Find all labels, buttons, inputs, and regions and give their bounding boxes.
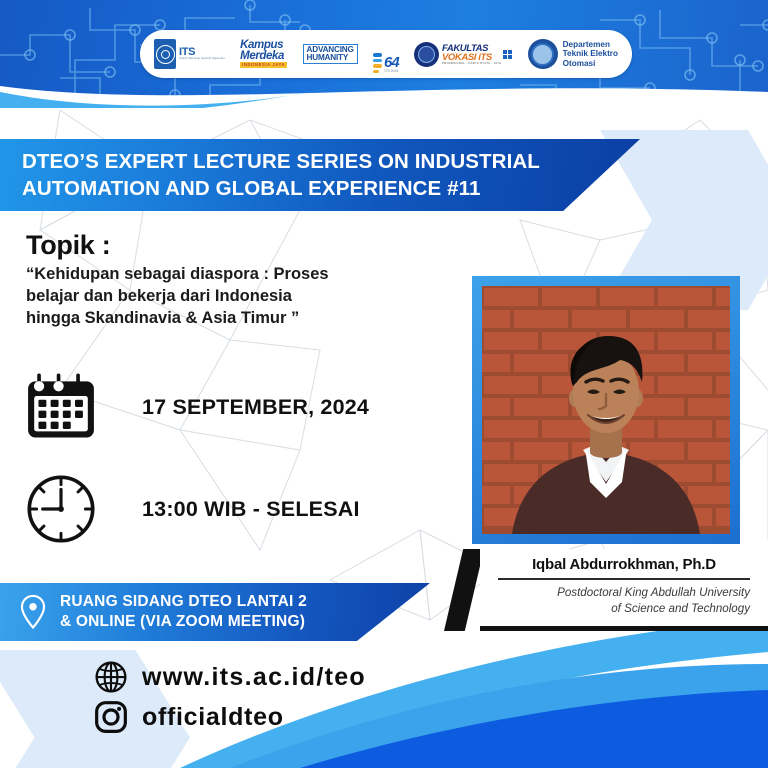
title-line-1: DTEO’S EXPERT LECTURE SERIES ON INDUSTRI… <box>22 148 640 175</box>
speaker-photo-frame <box>472 276 740 544</box>
speaker-name-block: Iqbal Abdurrokhman, Ph.D Postdoctoral Ki… <box>444 549 768 631</box>
instagram-icon <box>94 700 128 734</box>
dteo-line1: Departemen <box>563 40 618 49</box>
speaker-photo <box>482 286 730 534</box>
topic-line-1: “Kehidupan sebagai diaspora : Proses <box>26 264 456 286</box>
calendar-icon <box>22 368 100 446</box>
its-anniversary-logo: 64 ITS 2024 <box>373 35 399 73</box>
poster-canvas: ITS Institut Teknologi Sepuluh Nopember … <box>0 0 768 768</box>
speaker-accent-bar <box>444 549 484 631</box>
its-seal-icon <box>154 39 176 69</box>
header-band: ITS Institut Teknologi Sepuluh Nopember … <box>0 0 768 108</box>
fakultas-vokasi-its-logo: FAKULTAS VOKASI iTS PROFESIONAL - KARYA … <box>414 34 512 74</box>
globe-icon <box>94 660 128 694</box>
speaker-portrait <box>482 286 730 534</box>
logo-bar: ITS Institut Teknologi Sepuluh Nopember … <box>140 30 632 78</box>
location-line-1: RUANG SIDANG DTEO LANTAI 2 <box>60 592 307 612</box>
title-banner: DTEO’S EXPERT LECTURE SERIES ON INDUSTRI… <box>0 139 640 211</box>
footer-contacts: www.its.ac.id/teo officialdteo <box>94 660 366 740</box>
topic-line-2: belajar dan bekerja dari Indonesia <box>26 286 456 308</box>
location-bar: RUANG SIDANG DTEO LANTAI 2 & ONLINE (VIA… <box>0 583 430 641</box>
its-logo-sub: Institut Teknologi Sepuluh Nopember <box>179 58 225 61</box>
advancing-humanity-line2: HUMANITY <box>307 54 354 62</box>
topic-block: Topik : “Kehidupan sebagai diaspora : Pr… <box>26 230 456 330</box>
departemen-teknik-elektro-otomasi-logo: Departemen Teknik Elektro Otomasi <box>528 34 618 74</box>
kampus-merdeka-line2: Merdeka <box>240 51 287 62</box>
website-url: www.its.ac.id/teo <box>142 663 366 692</box>
title-line-2: AUTOMATION AND GLOBAL EXPERIENCE #11 <box>22 175 640 202</box>
instagram-handle: officialdteo <box>142 703 284 732</box>
dteo-line3: Otomasi <box>563 59 618 68</box>
speaker-affiliation-line-1: Postdoctoral King Abdullah University <box>498 585 750 600</box>
anniversary-sub: ITS 2024 <box>384 70 399 73</box>
dteo-line2: Teknik Elektro <box>563 49 618 58</box>
time-value: 13:00 WIB - SELESAI <box>142 497 360 522</box>
vokasi-squares-icon <box>503 50 512 59</box>
kampus-merdeka-logo: Kampus Merdeka INDONESIA JAYA <box>240 34 287 74</box>
location-line-2: & ONLINE (VIA ZOOM MEETING) <box>60 612 307 632</box>
vokasi-tagline: PROFESIONAL - KARYA NYATA - JAYA <box>442 62 501 65</box>
date-value: 17 SEPTEMBER, 2024 <box>142 395 369 420</box>
speaker-affiliation-line-2: of Science and Technology <box>498 601 750 616</box>
instagram-row[interactable]: officialdteo <box>94 700 366 734</box>
gear-globe-icon <box>528 39 558 69</box>
speaker-name: Iqbal Abdurrokhman, Ph.D <box>532 556 716 573</box>
time-row: 13:00 WIB - SELESAI <box>22 470 360 548</box>
topic-line-3: hingga Skandinavia & Asia Timur ” <box>26 308 456 330</box>
topic-heading: Topik : <box>26 230 456 261</box>
anniversary-bars-icon <box>373 53 382 73</box>
kampus-merdeka-tagline: INDONESIA JAYA <box>240 62 287 68</box>
speaker-divider <box>498 578 750 580</box>
advancing-humanity-logo: ADVANCING HUMANITY <box>303 34 358 74</box>
vokasi-badge-icon <box>414 42 439 67</box>
its-logo: ITS Institut Teknologi Sepuluh Nopember <box>154 34 225 74</box>
clock-icon <box>22 470 100 548</box>
anniversary-number: 64 <box>384 56 399 70</box>
location-pin-icon <box>18 594 48 630</box>
website-row[interactable]: www.its.ac.id/teo <box>94 660 366 694</box>
kampus-merdeka-line1: Kampus <box>240 40 287 51</box>
date-row: 17 SEPTEMBER, 2024 <box>22 368 369 446</box>
